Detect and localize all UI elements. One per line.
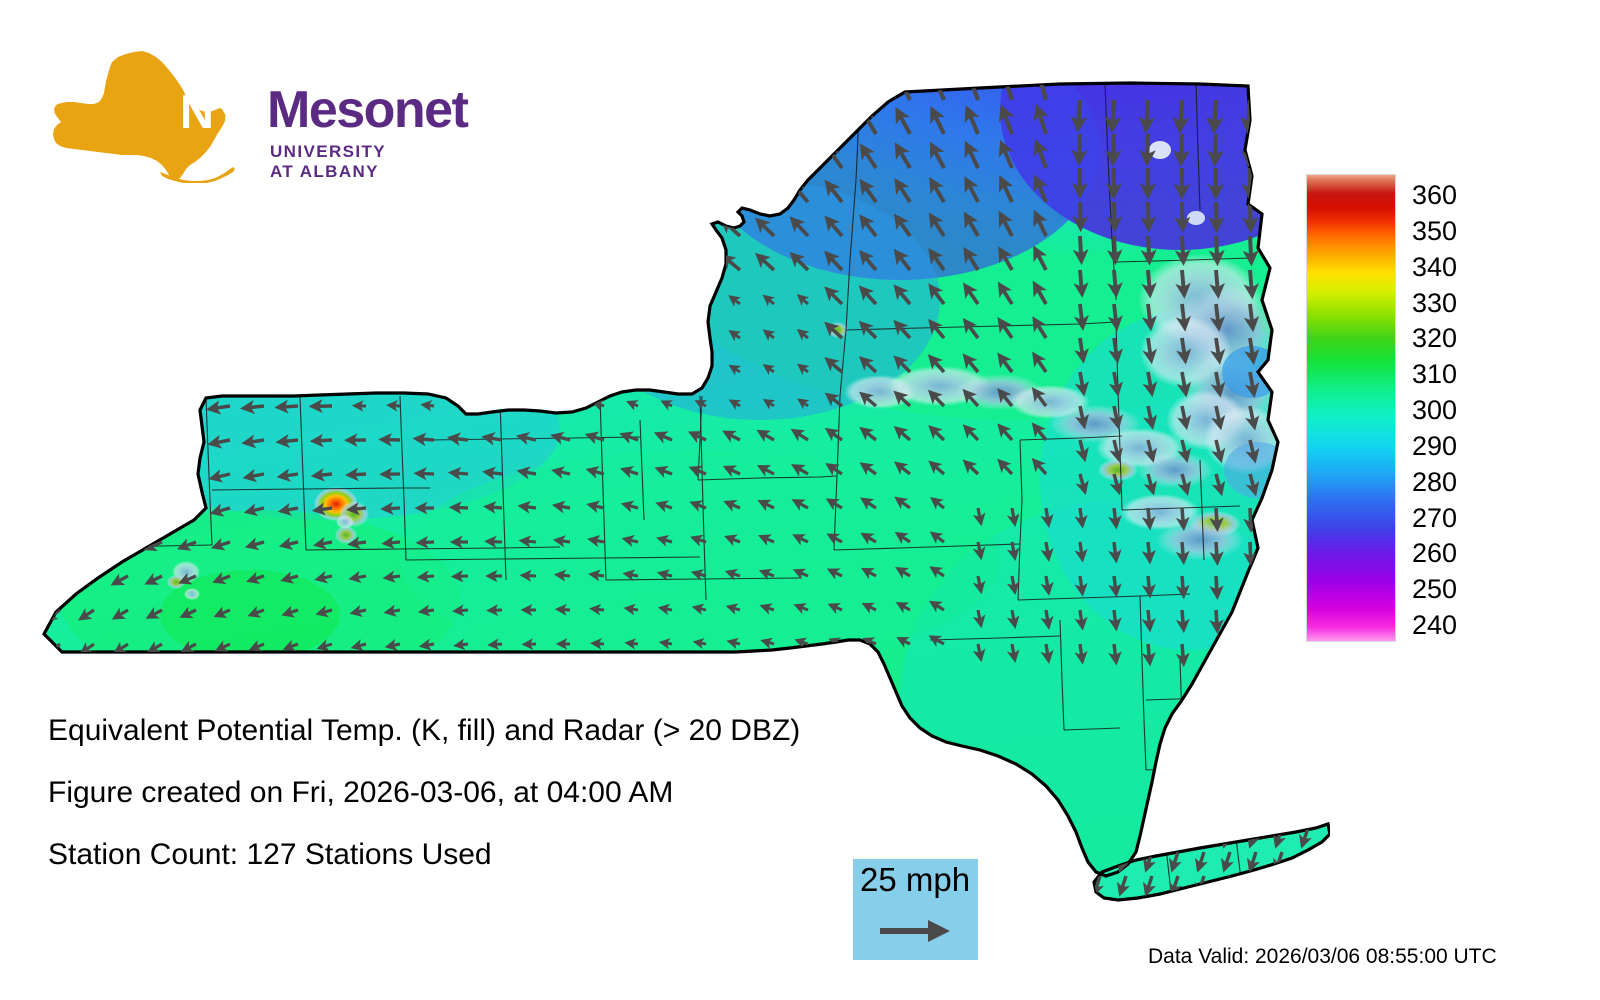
wind-arrow [655,118,672,134]
wind-arrow [1080,236,1081,260]
wind-arrow [1282,100,1284,129]
wind-arrow [80,542,94,550]
wind-arrow [664,368,672,372]
wind-arrow [389,336,400,338]
wind-arrow [134,97,162,101]
wind-arrow [1225,900,1230,916]
wind-arrow [171,201,196,202]
wind-arrow [458,335,468,338]
wind-arrow [1148,304,1151,326]
wind-arrow [1250,576,1251,596]
wind-arrow [457,301,468,304]
wind-arrow [628,643,638,644]
wind-arrow [829,78,842,100]
wind-arrow [68,202,94,204]
wind-arrow [72,304,95,309]
wind-arrow [595,368,604,372]
wind-arrow [698,367,706,372]
wind-arrow [480,86,502,100]
wind-arrow [1113,134,1114,161]
wind-arrow [379,265,400,270]
wind-arrow [389,302,400,304]
wind-arrow [106,304,128,308]
wind-arrow [309,232,332,236]
wind-arrow [620,83,638,100]
wind-arrow [1121,900,1126,916]
colorbar-tick-350: 350 [1412,218,1457,245]
wind-arrow [205,165,231,168]
wind-arrow [111,474,128,481]
wind-arrow [1284,440,1289,459]
wind-arrow [1250,542,1251,562]
wind-arrow [1216,576,1217,595]
wind-arrow [1216,644,1217,663]
wind-arrow [1250,202,1251,228]
wind-arrow [446,158,468,168]
wind-arrow [690,223,706,236]
wind-arrow [145,474,162,480]
colorbar-tick-310: 310 [1412,361,1457,388]
wind-arrow [621,260,638,271]
colorbar-gradient [1307,175,1395,641]
wind-arrow [527,369,536,372]
wind-arrow [550,84,570,100]
wind-arrow [1182,644,1184,662]
wind-arrow [103,202,129,203]
wind-arrow [759,186,774,202]
wind-arrow [46,542,60,551]
wind-arrow [112,508,128,515]
wind-arrow [559,609,570,610]
wind-arrow [1114,644,1116,661]
wind-arrow [551,226,570,236]
wind-arrow [1284,406,1288,426]
wind-arrow [550,120,570,134]
wind-arrow [1114,202,1115,227]
wind-arrow [1199,828,1204,844]
wind-arrow [241,234,265,236]
wind-arrow [110,440,128,446]
wind-arrow [74,372,94,378]
wind-arrow [526,335,536,338]
wind-arrow [276,268,298,270]
wind-arrow [724,81,740,100]
wind-arrow [420,542,434,543]
wind-arrow [793,150,808,168]
wind-arrow [1080,202,1081,227]
wind-arrow [1284,304,1287,327]
wind-arrow [457,644,468,645]
wind-arrow [482,262,502,270]
wind-arrow [628,609,639,611]
wind-arrow [1215,134,1216,161]
wind-arrow [310,267,332,270]
wind-arrow [69,236,94,239]
wind-arrow [1147,828,1152,844]
wind-arrow [108,372,128,377]
wind-arrow [620,118,638,134]
wind-arrow [1080,610,1082,626]
colorbar-tick-360: 360 [1412,182,1457,209]
wind-arrow [456,610,468,611]
wind-arrow [32,134,60,135]
wind-arrow [378,230,400,236]
colorbar-tick-280: 280 [1412,469,1457,496]
wind-arrow [210,372,230,374]
wind-arrow [36,270,60,275]
wind-arrow [560,300,570,304]
wind-arrow [447,193,468,202]
wind-arrow [351,508,366,510]
wind-arrow [76,440,94,447]
colorbar-tick-330: 330 [1412,290,1457,317]
wind-scale-label: 25 mph [860,863,970,896]
wind-arrow [1148,508,1150,526]
wind-arrow [239,164,264,169]
wind-arrow [77,474,94,481]
wind-arrow [1114,610,1116,627]
wind-arrow [794,79,808,100]
wind-arrow [621,224,638,236]
wind-arrow [355,302,366,304]
wind-arrow [663,333,672,338]
colorbar-tick-320: 320 [1412,325,1457,352]
wind-arrow [356,371,367,372]
wind-arrow [100,98,128,100]
wind-arrow [312,337,332,338]
wind-arrow [206,235,230,236]
wind-arrow [344,266,366,270]
wind-arrow [170,166,196,168]
wind-arrow [1277,900,1282,916]
wind-arrow [794,114,808,134]
wind-arrow [65,99,94,100]
wind-arrow [759,80,774,100]
wind-arrow [43,474,60,482]
wind-arrow [1148,270,1150,293]
wind-arrow [759,115,774,134]
wind-arrow [458,370,468,372]
wind-arrow [492,300,502,304]
wind-arrow [1078,100,1080,127]
wind-arrow [352,542,366,544]
wind-arrow [515,85,536,100]
wind-arrow [481,121,502,134]
wind-arrow [78,508,94,516]
wind-arrow [1277,876,1282,892]
wind-arrow [1114,304,1117,326]
colorbar-tick-260: 260 [1412,540,1457,567]
wind-arrow [1114,542,1116,559]
logo-brand-text: Mesonet [267,84,467,136]
wind-arrow [864,77,876,100]
wind-arrow [482,227,502,236]
wind-arrow [585,119,604,134]
wind-arrow [75,406,94,413]
wind-arrow [179,474,196,479]
wind-arrow [277,303,299,304]
wind-arrow [1080,304,1083,326]
wind-arrow [40,372,60,379]
wind-arrow [1148,202,1149,227]
wind-arrow [146,508,162,514]
wind-arrow [585,84,604,100]
wind-arrow [1250,270,1252,294]
wind-arrow [424,405,434,406]
wind-arrow [423,644,434,646]
wind-arrow [552,261,570,270]
caption-title: Equivalent Potential Temp. (K, fill) and… [48,716,948,746]
wind-arrow [595,334,604,338]
wind-arrow [1251,876,1256,892]
wind-arrow [413,264,434,270]
wind-arrow [516,191,536,202]
wind-arrow [67,168,94,169]
wind-arrow [1182,610,1184,628]
wind-arrow [240,199,264,202]
wind-arrow [690,82,706,101]
wind-arrow [244,372,264,373]
wind-arrow [586,225,604,236]
wind-arrow [489,541,503,542]
wind-arrow [1114,270,1116,293]
wind-arrow [724,187,740,202]
wind-arrow [1182,236,1183,260]
wind-arrow [1148,610,1150,628]
wind-arrow [690,117,706,134]
wind-arrow [690,188,706,203]
wind-arrow [595,299,605,304]
wind-arrow [1283,134,1284,162]
wind-arrow [493,404,502,406]
wind-arrow [316,474,333,476]
wind-arrow [663,643,672,644]
colorbar-tick-240: 240 [1412,612,1457,639]
wind-arrow [1303,852,1308,868]
wind-arrow [243,338,264,339]
wind-arrow [447,228,468,236]
wind-arrow [551,155,571,168]
wind-arrow [385,508,400,509]
wind-arrow [491,644,502,645]
wind-arrow [488,507,502,508]
wind-arrow [281,474,298,476]
wind-arrow [656,259,672,270]
wind-arrow [280,440,298,442]
wind-arrow [139,270,162,272]
wind-arrow [104,236,129,238]
wind-arrow [1216,202,1217,228]
wind-arrow [70,270,94,274]
wind-arrow [561,403,570,406]
wind-arrow [135,132,162,134]
wind-arrow [697,298,706,304]
wind-arrow [526,300,536,304]
wind-arrow [561,334,571,338]
wind-arrow [1080,542,1082,558]
wind-arrow [142,372,162,376]
wind-arrow [177,406,196,410]
wind-arrow [138,236,162,237]
wind-arrow [1182,202,1183,227]
wind-arrow [1080,508,1082,524]
wind-arrow [448,263,468,270]
wind-arrow [586,260,604,270]
wind-arrow [1303,876,1308,892]
wind-arrow [387,576,400,578]
wind-arrow [423,301,434,304]
caption-station-count: Station Count: 127 Stations Used [48,840,948,870]
colorbar-tick-300: 300 [1412,397,1457,424]
wind-arrow [724,151,740,168]
wind-arrow [593,609,604,610]
wind-arrow [620,154,638,168]
wind-arrow [173,270,196,271]
wind-arrow [1080,576,1082,592]
wind-arrow [178,440,196,444]
wind-arrow [315,440,333,441]
wind-scale-legend: 25 mph [853,859,978,960]
wind-arrow [205,200,230,202]
wind-arrow [524,575,536,576]
wind-arrow [1284,474,1289,492]
wind-arrow [209,338,230,340]
wind-arrow [492,370,502,373]
wind-arrow [620,189,638,202]
wind-arrow [175,338,196,341]
wind-arrow [698,333,706,338]
wind-arrow [141,338,162,342]
wind-arrow [1182,542,1184,560]
wind-arrow [1284,202,1285,228]
wind-arrow [1114,576,1116,593]
wind-arrow [421,576,434,577]
wind-arrow [350,474,366,475]
wind-arrow [561,369,570,372]
wind-arrow [275,233,298,236]
wind-arrow [655,224,672,236]
wind-arrow [557,540,570,542]
wind-arrow [1114,236,1115,260]
wind-arrow [45,508,60,517]
wind-arrow [279,406,298,407]
wind-arrow [208,304,230,305]
wind-arrow [527,404,536,406]
wind-arrow [1250,508,1251,528]
wind-arrow [697,642,707,644]
wind-arrow [355,337,366,338]
wind-arrow [417,439,434,440]
wind-arrow [481,157,502,168]
wind-arrow [662,608,672,610]
wind-arrow [1182,304,1185,326]
wind-arrow [38,304,61,310]
wind-arrow [455,576,468,577]
caption-block: Equivalent Potential Temp. (K, fill) and… [48,716,948,902]
wind-arrow [592,574,604,576]
wind-arrow [1182,508,1184,526]
wind-arrow [412,194,434,202]
wind-arrow [174,304,196,306]
wind-arrow [1181,134,1182,161]
wind-arrow [143,406,162,411]
wind-arrow [1080,644,1082,660]
wind-arrow [655,188,672,202]
wind-arrow [1146,100,1148,128]
wind-arrow [516,156,536,168]
colorbar-tick-270: 270 [1412,505,1457,532]
wind-arrow [1173,828,1178,844]
wind-arrow [422,610,434,612]
wind-arrow [386,542,400,543]
wind-arrow [423,336,434,338]
wind-arrow [1284,236,1285,261]
wind-arrow [1284,610,1285,631]
wind-arrow [1148,236,1149,260]
wind-arrow [1114,508,1116,525]
wind-arrow [34,202,60,206]
colorbar [1306,174,1396,642]
wind-arrow [629,368,638,372]
wind-arrow [523,541,536,542]
wind-arrow [492,335,502,338]
wind-arrow [180,508,196,513]
wind-arrow [107,338,128,343]
wind-arrow [1284,576,1285,597]
wind-arrow [627,574,638,576]
wind-arrow [113,542,128,549]
wind-arrow [1148,542,1150,560]
wind-arrow [33,168,60,171]
wind-arrow [551,190,570,202]
wind-arrow [390,371,400,372]
wind-arrow [1250,610,1251,630]
wind-arrow [453,507,468,508]
wind-arrow [41,406,60,414]
colorbar-tick-labels: 360350340330320310300290280270260250240 [1412,174,1522,640]
wind-arrow [1284,508,1285,529]
wind-arrow [424,370,434,372]
wind-arrow [388,610,400,612]
colorbar-tick-340: 340 [1412,254,1457,281]
wind-arrow [1216,236,1217,261]
wind-arrow [1182,576,1184,594]
wind-arrow [241,269,264,270]
wind-arrow [413,229,434,236]
wind-arrow [101,133,128,134]
wind-arrow [522,506,536,508]
wind-arrow [452,438,468,440]
wind-arrow [378,195,400,202]
wind-arrow [1112,100,1114,128]
wind-arrow-icon [880,916,952,946]
wind-arrow [1080,270,1082,293]
wind-arrow [1148,576,1150,594]
wind-arrow [136,167,162,168]
logo-nys-text: NYS [180,88,274,135]
wind-arrow [1251,900,1256,916]
wind-arrow [39,338,60,345]
wind-arrow [176,372,196,375]
wind-arrow [390,405,400,406]
wind-arrow [1284,542,1285,563]
wind-arrow [344,231,366,236]
wind-arrow [1284,270,1286,294]
wind-arrow [309,197,333,202]
wind-arrow [311,302,332,304]
wind-arrow [1173,900,1178,916]
wind-arrow [42,440,60,448]
